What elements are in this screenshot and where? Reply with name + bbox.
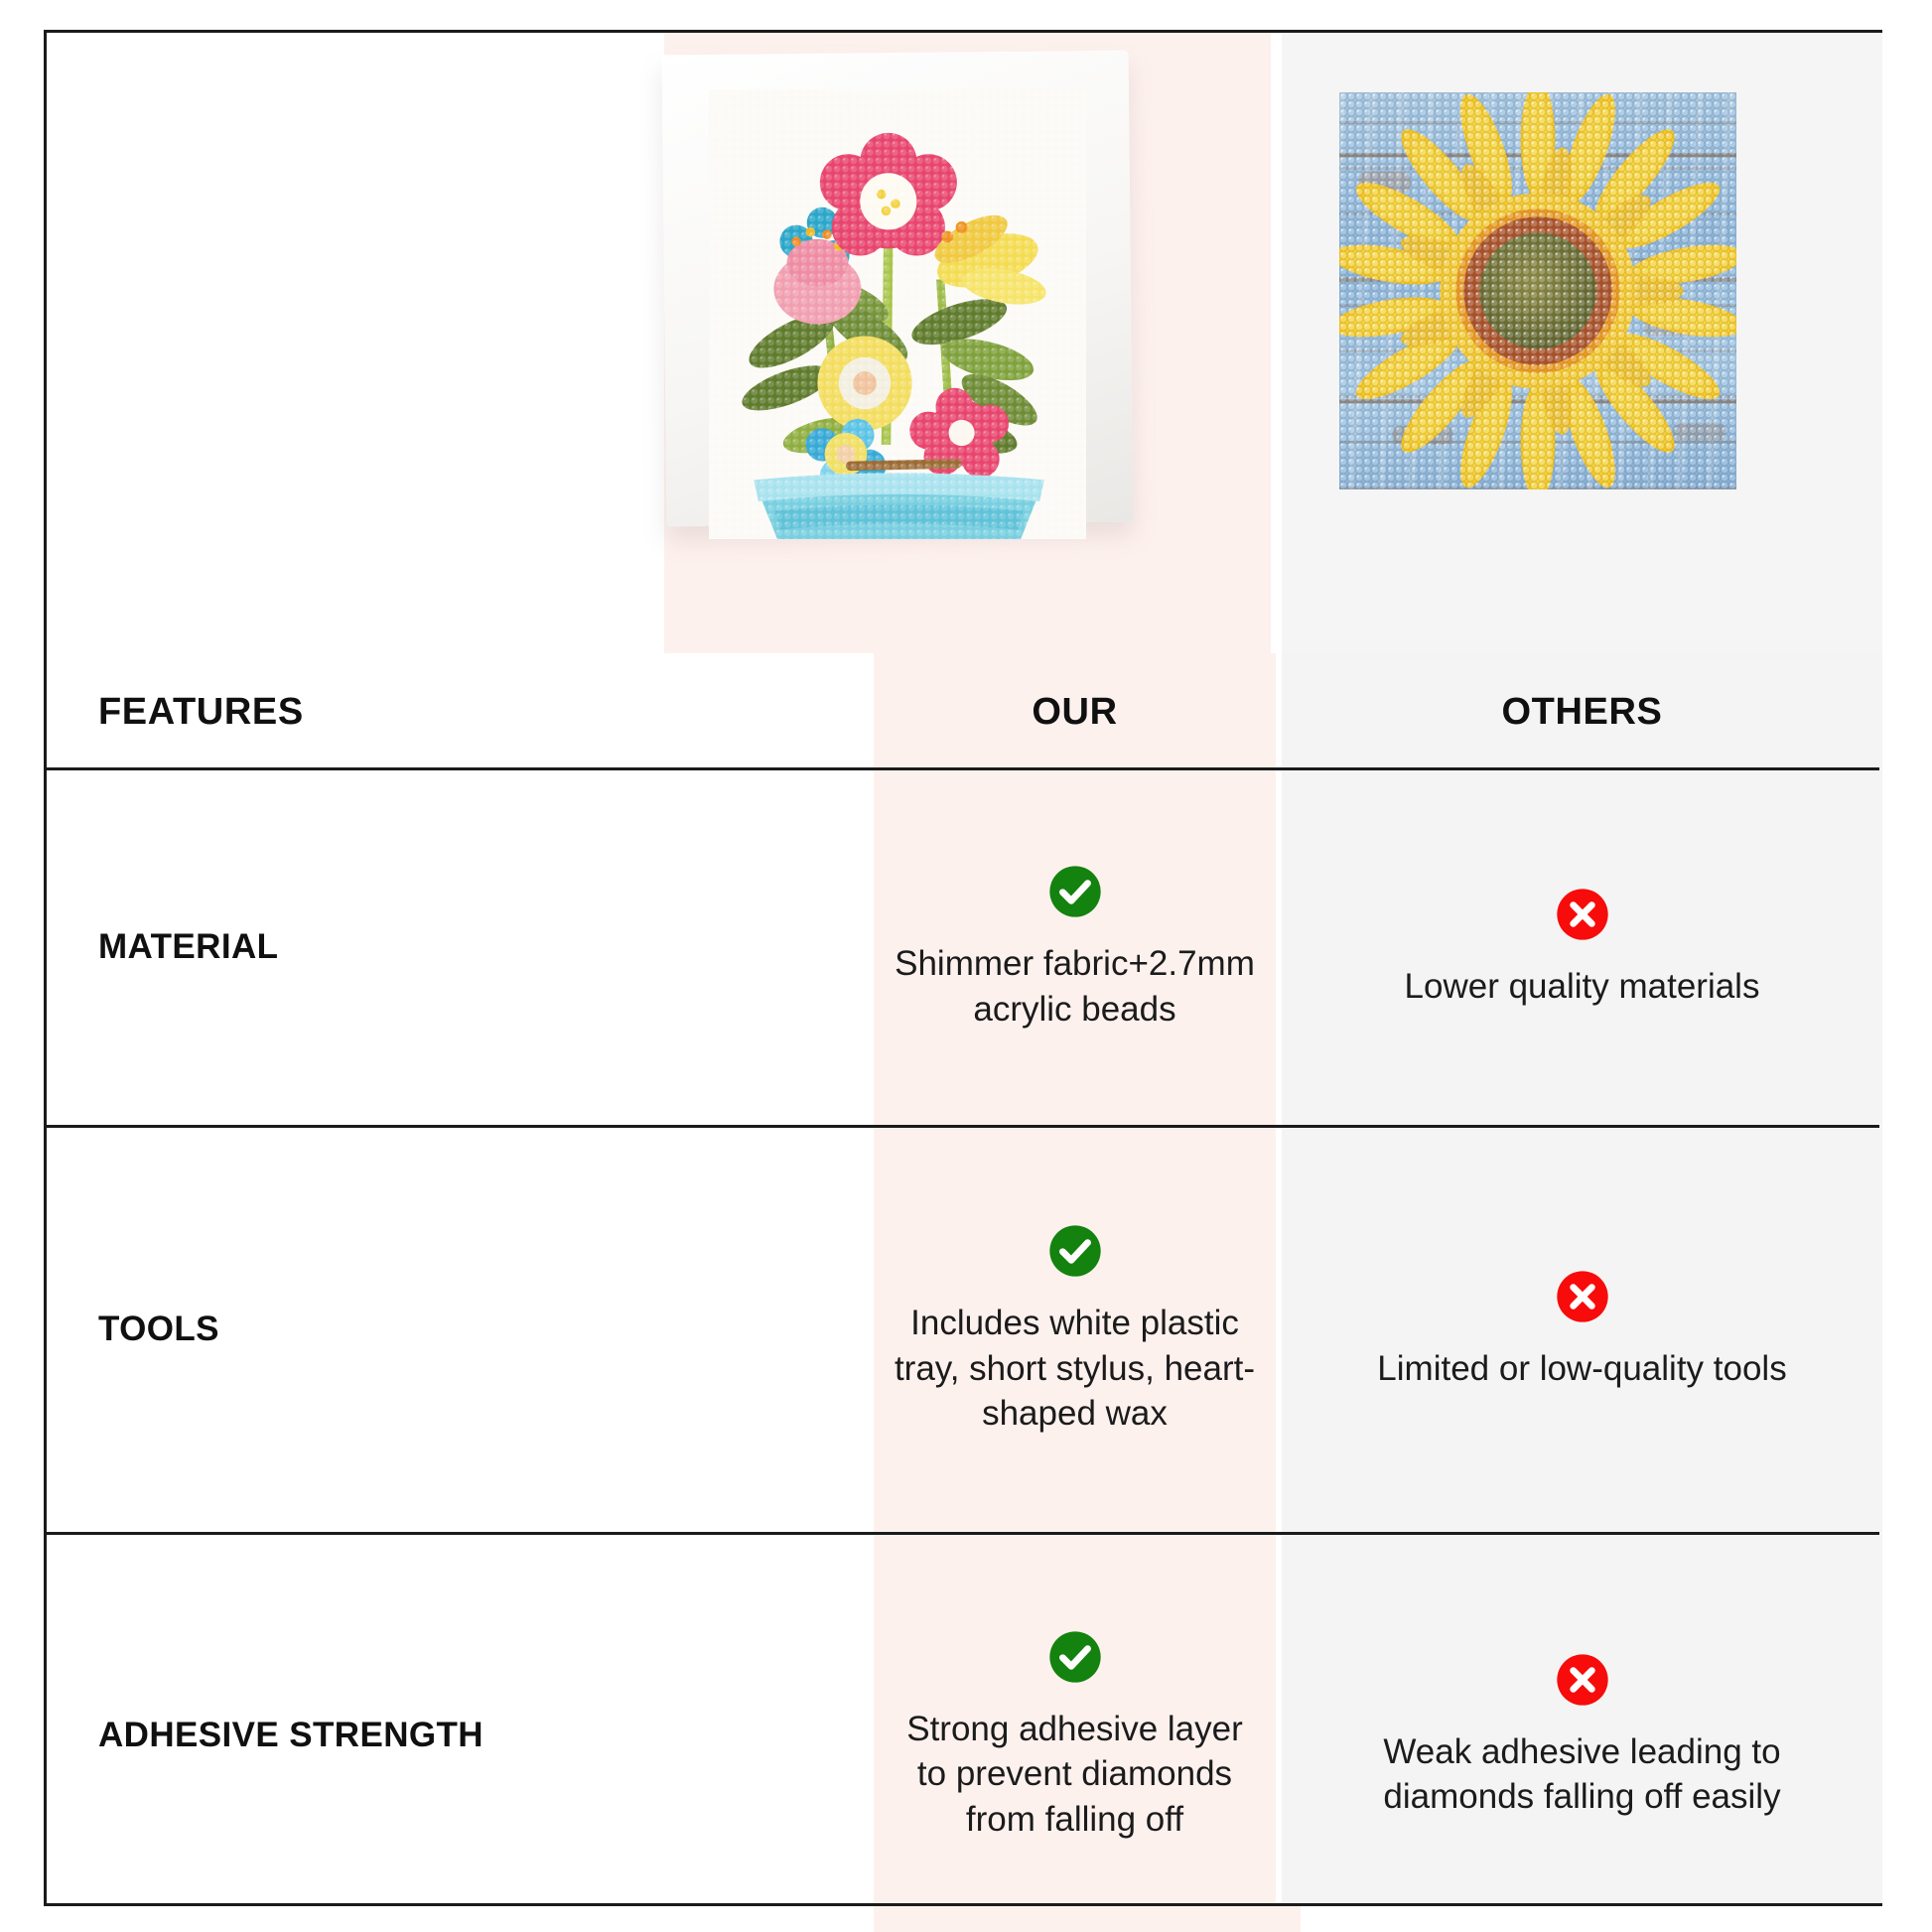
feature-name-cell: ADHESIVE STRENGTH — [98, 1535, 615, 1932]
feature-label: MATERIAL — [98, 925, 278, 970]
table-row: TOOLS Includes white plastic tray, short… — [47, 1128, 1879, 1535]
product-image-row — [47, 33, 1879, 653]
our-value-cell: Shimmer fabric+2.7mm acrylic beads — [874, 770, 1276, 1125]
feature-label: TOOLS — [98, 1308, 219, 1352]
sunflower-graphic — [1339, 92, 1736, 489]
our-value-text: Includes white plastic tray, short stylu… — [888, 1301, 1262, 1437]
others-value-text: Lower quality materials — [1405, 964, 1760, 1010]
comparison-table: FEATURES OUR OTHERS MATERIAL Shimmer fab… — [44, 30, 1882, 1906]
column-header-others: OTHERS — [1282, 653, 1882, 770]
feature-name-cell: MATERIAL — [98, 770, 615, 1125]
column-header-our: OUR — [874, 653, 1276, 770]
check-circle-icon — [1047, 864, 1103, 919]
flower-artwork — [709, 90, 1087, 539]
column-header-row: FEATURES OUR OTHERS — [47, 653, 1879, 770]
our-value-text: Shimmer fabric+2.7mm acrylic beads — [888, 941, 1262, 1032]
our-value-text: Strong adhesive layer to prevent diamond… — [888, 1707, 1262, 1843]
others-product-photo — [1339, 92, 1736, 489]
others-value-cell: Limited or low-quality tools — [1282, 1128, 1882, 1532]
feature-name-cell: TOOLS — [98, 1128, 615, 1532]
sunflower-artwork — [1339, 92, 1736, 489]
column-header-features: FEATURES — [98, 653, 595, 770]
table-row: MATERIAL Shimmer fabric+2.7mm acrylic be… — [47, 770, 1879, 1128]
cross-circle-icon — [1555, 1269, 1610, 1324]
others-value-text: Weak adhesive leading to diamonds fallin… — [1349, 1729, 1816, 1820]
others-value-cell: Weak adhesive leading to diamonds fallin… — [1282, 1535, 1882, 1932]
others-value-cell: Lower quality materials — [1282, 770, 1882, 1125]
our-value-cell: Strong adhesive layer to prevent diamond… — [874, 1535, 1276, 1932]
feature-label: ADHESIVE STRENGTH — [98, 1714, 483, 1758]
others-value-text: Limited or low-quality tools — [1377, 1346, 1786, 1392]
check-circle-icon — [1047, 1629, 1103, 1685]
table-row: ADHESIVE STRENGTH Strong adhesive layer … — [47, 1535, 1879, 1932]
comparison-infographic: FEATURES OUR OTHERS MATERIAL Shimmer fab… — [0, 0, 1932, 1932]
check-circle-icon — [1047, 1223, 1103, 1279]
cross-circle-icon — [1555, 887, 1610, 942]
our-product-photo — [664, 53, 1131, 524]
frame-mat — [709, 90, 1087, 482]
cross-circle-icon — [1555, 1652, 1610, 1708]
our-value-cell: Includes white plastic tray, short stylu… — [874, 1128, 1276, 1532]
